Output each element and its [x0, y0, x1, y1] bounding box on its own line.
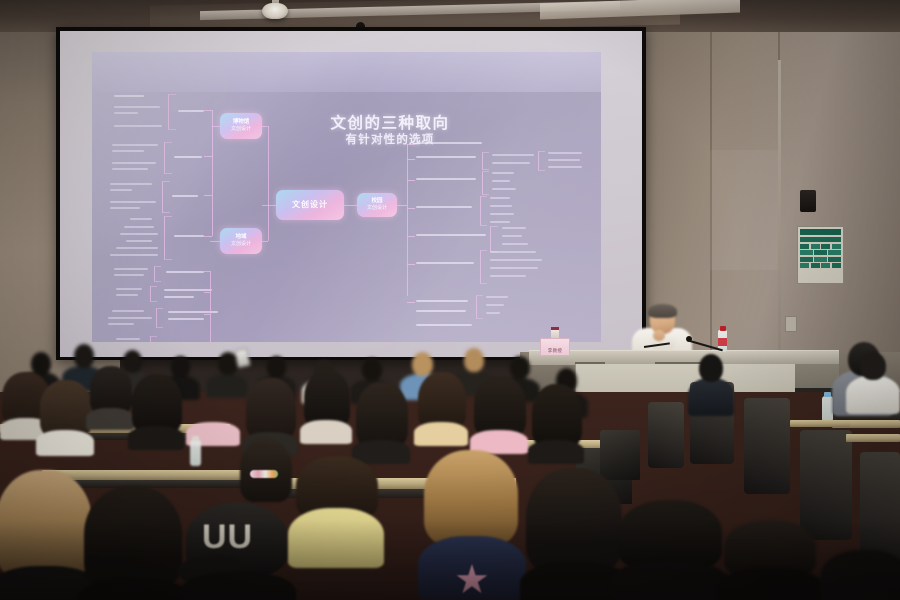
microphone-head	[686, 336, 692, 342]
seat-right	[648, 402, 684, 468]
audience-member-right-3	[846, 352, 900, 412]
audience-member	[86, 366, 134, 424]
slide-top-band	[92, 52, 601, 92]
slide-subtitle: 有针对性的选项	[300, 131, 480, 147]
desk-right-3	[846, 434, 900, 442]
audience-member	[186, 372, 240, 440]
presenter-hand	[653, 330, 665, 341]
audience-member	[414, 372, 468, 440]
mindmap-node-upper-left: 博物馆 文创设计	[220, 113, 262, 139]
lecture-hall-scene: 博物馆 文创设计 地域 文创设计 文创设计 校园 文创设计 文创的三种取向 有针…	[0, 0, 900, 600]
audience-member	[128, 374, 184, 444]
bottle-cap	[720, 326, 726, 331]
slide-title: 文创的三种取向	[300, 111, 480, 133]
audience-member-front	[820, 532, 900, 600]
evacuation-notice-board	[797, 226, 844, 284]
hair-accessory	[250, 470, 278, 478]
presentation-slide: 博物馆 文创设计 地域 文创设计 文创设计 校园 文创设计 文创的三种取向 有针…	[92, 52, 601, 342]
wall-speaker	[800, 190, 816, 212]
sign-header	[800, 229, 841, 235]
presenter-hair	[648, 304, 677, 318]
node-label-line2: 文创设计	[231, 126, 251, 132]
audience-member-front	[78, 486, 190, 600]
audience-member-front	[288, 456, 384, 566]
audience-member-front-star: ★	[418, 450, 526, 600]
person-torso	[688, 378, 734, 416]
cap-logo-text: UU	[202, 518, 253, 557]
wall-outlet-plate	[785, 316, 797, 332]
audience-member	[470, 376, 528, 448]
bottle-label	[718, 338, 727, 346]
node-label-line2: 文创设计	[231, 241, 251, 247]
mindmap-node-right: 校园 文创设计	[357, 193, 397, 217]
audience-member-front-cap: UU	[178, 502, 296, 600]
audience-member-front	[716, 520, 826, 600]
node-label-line1: 文创设计	[292, 200, 328, 210]
mindmap-node-lower-left: 地域 文创设计	[220, 228, 262, 254]
star-graphic: ★	[454, 560, 490, 600]
node-label-line2: 文创设计	[367, 205, 387, 211]
person-torso	[846, 376, 900, 414]
ceiling-light	[262, 3, 288, 19]
person-head	[860, 352, 886, 380]
audience-member	[352, 382, 410, 458]
presenter-nameplate: 李教授	[540, 338, 570, 356]
person-head	[699, 354, 723, 382]
audience-member	[528, 384, 584, 458]
audience-member-hairclip	[236, 440, 296, 510]
yellow-sweater	[288, 508, 384, 568]
water-bottle-desk-2	[190, 440, 201, 466]
seat-right	[744, 398, 790, 494]
nameplate-text: 李教授	[548, 348, 562, 354]
audience-member-right-2	[688, 352, 734, 414]
desk-right-2	[790, 420, 850, 427]
audience-member	[300, 370, 352, 438]
mindmap-node-center: 文创设计	[276, 190, 344, 220]
audience-member-front	[610, 500, 730, 600]
